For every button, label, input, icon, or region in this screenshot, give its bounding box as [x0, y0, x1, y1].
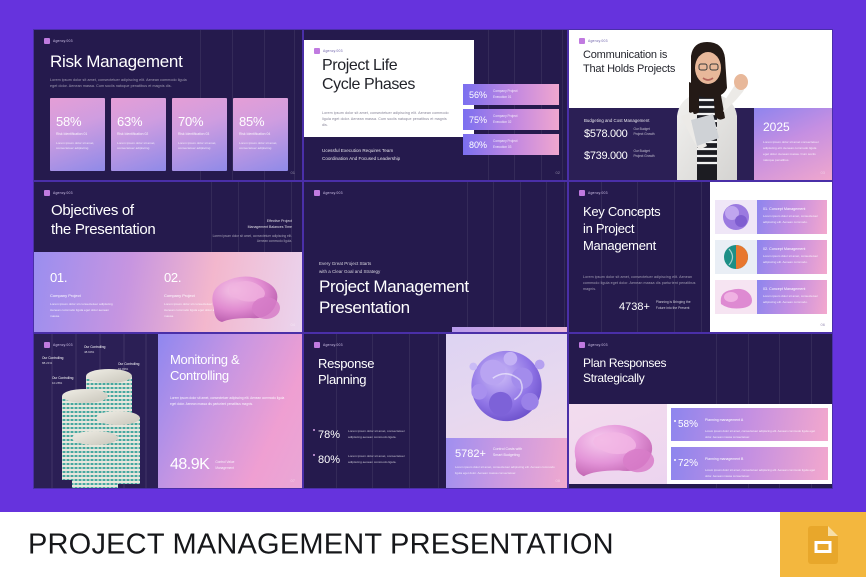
slide-title-line1: Project Life [322, 57, 397, 74]
concept-row[interactable]: 03. Concept Management Lorem ipsum dolor… [715, 280, 827, 314]
slide-title: Monitoring & Controlling [170, 352, 290, 385]
concept-row-panel: 01. Concept Management Lorem ipsum dolor… [710, 182, 832, 332]
corner-note-heading: Effective Project Management Balances Ti… [212, 218, 292, 231]
phase-bar[interactable]: 75% Company Project Execution 02 [463, 109, 559, 130]
concept-row-heading: 01. Concept Management [763, 207, 821, 211]
year-value: 2025 [763, 120, 823, 134]
concept-row-info: 01. Concept Management Lorem ipsum dolor… [757, 200, 827, 234]
risk-card[interactable]: 63% Risk Identification 02 Lorem ipsum d… [111, 98, 166, 171]
budget-figure-row: $578.000 Our Budget Project Growth [584, 127, 655, 140]
kpi-line2: Management [215, 466, 234, 470]
logo-text: Agency.003 [588, 343, 608, 347]
phase-bar-label1: Company Project [493, 139, 517, 143]
concept-row-text: Lorem ipsum dolor sit amet, consectetuer… [763, 214, 821, 225]
slide-page-number: 06 [821, 322, 825, 327]
response-stat-bar: 5782+ Control Costs with Smart Budgeting… [446, 438, 567, 488]
chart-callout: Our Controlling 48.90% [84, 345, 105, 355]
year-text: Lorem ipsum dolor sit amet consectetuer … [763, 140, 823, 164]
plan-response-text: Lorem ipsum dolor sit amet, consectetuer… [705, 468, 821, 479]
chart-callout-value: 63.89% [118, 367, 128, 371]
phase-bar-meta: Company Project Execution 01 [493, 89, 517, 100]
risk-card-percent: 63% [117, 114, 160, 129]
phase-bar[interactable]: 80% Company Project Execution 03 [463, 134, 559, 155]
slide-plan-responses-strategically[interactable]: Agency.003 Plan Responses Strategically [568, 333, 833, 489]
response-point: 80% Lorem ipsum dolor sit amet, consecte… [318, 454, 418, 466]
slides-grid-backdrop: Agency.003 Risk Management Lorem ipsum d… [0, 0, 866, 512]
slides-grid: Agency.003 Risk Management Lorem ipsum d… [33, 29, 833, 489]
slide-response-planning[interactable]: Agency.003 Response Planning 78% Lorem i… [303, 333, 568, 489]
phase-bar-meta: Company Project Execution 02 [493, 114, 517, 125]
phase-bar-list: 56% Company Project Execution 01 75% Com… [463, 84, 559, 159]
kpi-number: 48.9K [170, 456, 209, 474]
concept-row-text: Lorem ipsum dolor sit amet, consectetuer… [763, 294, 821, 305]
risk-card-percent: 85% [239, 114, 282, 129]
corner-line2: Management Balances Time [248, 225, 292, 229]
budget-amount: $578.000 [584, 128, 627, 140]
slide-footer-statement: Ucessful Execution Requires Team Coordin… [322, 147, 467, 164]
slide-logo: Agency.003 [579, 38, 608, 44]
phase-bar-label1: Company Project [493, 114, 517, 118]
slide-page-number: 03 [821, 170, 825, 175]
risk-card-list: 58% Risk Identification 01 Lorem ipsum d… [50, 98, 288, 171]
concept-row-heading: 03. Concept Management [763, 287, 821, 291]
plan-response-item[interactable]: 72% Planning management B Lorem ipsum do… [671, 447, 828, 480]
pink-loop-blob-3d-art [569, 404, 667, 484]
logo-text: Agency.003 [588, 39, 608, 43]
slide-title-line1: Objectives of [51, 202, 134, 219]
teal-orange-sphere-3d-thumb [715, 240, 757, 274]
budget-meta: Our Budget Project Growth [633, 127, 654, 140]
monitoring-content-panel: Monitoring & Controlling Lorem ipsum dol… [158, 334, 302, 488]
risk-card[interactable]: 70% Risk Identification 03 Lorem ipsum d… [172, 98, 227, 171]
risk-card-percent: 70% [178, 114, 221, 129]
google-slides-badge[interactable] [780, 512, 866, 577]
slide-key-concepts[interactable]: Agency.003 Key Concepts in Project Manag… [568, 181, 833, 333]
slide-logo: Agency.003 [314, 342, 343, 348]
logo-mark-icon [579, 38, 585, 44]
plan-response-item[interactable]: 58% Planning management A Lorem ipsum do… [671, 408, 828, 441]
slide-logo: Agency.003 [44, 38, 73, 44]
slide-title: Project Management Presentation [319, 276, 469, 318]
concept-row[interactable]: 01. Concept Management Lorem ipsum dolor… [715, 200, 827, 234]
risk-card-text: Lorem ipsum dolor sit amet, consectetuer… [56, 141, 99, 152]
phase-bar-label2: Execution 02 [493, 120, 511, 124]
response-point-percent: 80% [318, 454, 340, 466]
stat-text: Lorem ipsum dolor sit amet, consectetuer… [455, 465, 558, 476]
slide-title-line2: Cycle Phases [322, 76, 415, 93]
chart-callout-value: 10.28% [52, 381, 62, 385]
phase-bar-meta: Company Project Execution 03 [493, 139, 517, 150]
budget-figure-row: $739.000 Our Budget Project Growth [584, 149, 655, 162]
response-point-text: Lorem ipsum dolor sit amet, consectetuer… [348, 429, 418, 441]
budget-amount: $739.000 [584, 150, 627, 162]
risk-card-text: Lorem ipsum dolor sit amet, consectetuer… [239, 141, 282, 152]
kicker-line1: Every Great Project Starts [319, 261, 371, 266]
slide-monitoring-controlling[interactable]: Agency.003 [33, 333, 303, 489]
plan-response-percent: 58% [678, 419, 698, 430]
presentation-title: PROJECT MANAGEMENT PRESENTATION [28, 528, 614, 561]
risk-card-label: Risk Identification 04 [239, 132, 282, 136]
risk-card-percent: 58% [56, 114, 99, 129]
objective-heading: Company Project [50, 293, 116, 298]
chart-callout-value: 88.21% [42, 361, 52, 365]
budget-label1: Our Budget [633, 149, 649, 153]
concept-row-text: Lorem ipsum dolor sit amet, consectetuer… [763, 254, 821, 265]
logo-text: Agency.003 [323, 191, 343, 195]
concept-row-info: 02. Concept Management Lorem ipsum dolor… [757, 240, 827, 274]
chart-panel: Agency.003 [34, 334, 158, 488]
kpi-line1: Control Value [215, 460, 234, 464]
logo-mark-icon [44, 38, 50, 44]
objective-text: Lorem ipsum dolor sit consectetuer adipi… [50, 302, 116, 320]
risk-card-text: Lorem ipsum dolor sit amet, consectetuer… [178, 141, 221, 152]
phase-bar-percent: 56% [469, 90, 487, 100]
logo-mark-icon [44, 342, 50, 348]
slide-logo: Agency.003 [44, 342, 73, 348]
logo-text: Agency.003 [53, 343, 73, 347]
slide-title: Key Concepts in Project Management [583, 204, 660, 255]
objective-column[interactable]: 01. Company Project Lorem ipsum dolor si… [50, 270, 116, 320]
slide-title-line2: Presentation [319, 298, 410, 317]
stat-text: Planning is Bringing the Future into the… [656, 300, 691, 313]
stat-line2: Smart Budgeting [493, 453, 520, 457]
stat-line1: Planning is Bringing the [656, 300, 691, 304]
stat-line2: Future into the Present [656, 306, 690, 310]
slide-title-line1: Plan Responses [583, 356, 666, 370]
footer-line1: Ucessful Execution Requires Team [322, 148, 393, 153]
slide-title-slide[interactable]: Agency.003 Every Great Project Starts wi… [303, 181, 568, 333]
slide-title-line1: Response [318, 356, 374, 371]
slide-title: Project Life Cycle Phases [322, 57, 415, 95]
plan-response-percent: 72% [678, 458, 698, 469]
chart-callout: Our Controlling 88.21% [42, 356, 63, 366]
slide-logo: Agency.003 [314, 48, 343, 54]
stat-heading: Control Costs with Smart Budgeting [493, 446, 522, 460]
key-concepts-stat: 4738+ Planning is Bringing the Future in… [619, 300, 691, 313]
slide-title-line1: Project Management [319, 277, 469, 296]
slide-title-line2: Strategically [583, 371, 644, 385]
slide-page-number: 07 [291, 478, 295, 483]
slide-logo: Agency.003 [44, 190, 73, 196]
plan-response-copy: Planning management B Lorem ipsum dolor … [705, 447, 821, 479]
chart-callout: Our Controlling 10.28% [52, 376, 73, 386]
kpi-text: Control Value Management [215, 460, 234, 474]
plan-response-heading: Planning management B [705, 457, 743, 461]
budget-heading: Budgeting and Cost Management [584, 118, 649, 123]
budget-label2: Project Growth [633, 154, 654, 158]
response-point-text: Lorem ipsum dolor sit amet, consectetuer… [348, 454, 418, 466]
objective-number: 01. [50, 270, 116, 285]
google-slides-icon [808, 526, 838, 564]
slide-communication[interactable]: Agency.003 Communication is That Holds P… [568, 29, 833, 181]
slide-subtitle: Lorem ipsum dolor sit amet, consectetuer… [583, 274, 701, 292]
risk-card[interactable]: 58% Risk Identification 01 Lorem ipsum d… [50, 98, 105, 171]
phase-bar-percent: 75% [469, 115, 487, 125]
caption-bar: PROJECT MANAGEMENT PRESENTATION [0, 512, 866, 577]
slide-objectives[interactable]: Agency.003 Objectives of the Presentatio… [33, 181, 303, 333]
phase-bar-label2: Execution 01 [493, 95, 511, 99]
footer-line2: Coordination And Focused Leadership [322, 156, 400, 161]
slide-page-number: 04 [291, 322, 295, 327]
logo-text: Agency.003 [588, 191, 608, 195]
slide-title: Response Planning [318, 356, 374, 389]
risk-card-text: Lorem ipsum dolor sit amet, consectetuer… [117, 141, 160, 152]
slide-title-line2: Planning [318, 372, 366, 387]
slide-title-line1: Monitoring & [170, 352, 239, 367]
risk-card-label: Risk Identification 01 [56, 132, 99, 136]
logo-text: Agency.003 [53, 191, 73, 195]
phase-bar-percent: 80% [469, 140, 487, 150]
accent-stripe [452, 327, 567, 332]
slide-title-line2: Controlling [170, 368, 229, 383]
slide-project-life-cycle-phases[interactable]: Agency.003 Project Life Cycle Phases Lor… [303, 29, 568, 181]
response-point: 78% Lorem ipsum dolor sit amet, consecte… [318, 429, 418, 441]
corner-line1: Effective Project [267, 219, 292, 223]
plan-response-heading: Planning management A [705, 418, 743, 422]
phase-bar[interactable]: 56% Company Project Execution 01 [463, 84, 559, 105]
chart-callout-value: 48.90% [84, 350, 94, 354]
slide-title-line3: Management [583, 238, 656, 253]
logo-mark-icon [579, 342, 585, 348]
response-point-percent: 78% [318, 429, 340, 441]
slide-title: Plan Responses Strategically [583, 356, 666, 387]
risk-card-label: Risk Identification 03 [178, 132, 221, 136]
logo-text: Agency.003 [53, 39, 73, 43]
slide-text: Lorem ipsum dolor sit amet, consectetuer… [170, 395, 288, 407]
concept-row-info: 03. Concept Management Lorem ipsum dolor… [757, 280, 827, 314]
logo-mark-icon [314, 190, 320, 196]
budget-label2: Project Growth [633, 132, 654, 136]
plan-response-copy: Planning management A Lorem ipsum dolor … [705, 408, 821, 440]
slide-headline-panel: Agency.003 Project Life Cycle Phases Lor… [304, 40, 474, 137]
kicker-line2: with a Clear Goal and Strategy [319, 269, 380, 274]
phase-bar-label2: Execution 03 [493, 145, 511, 149]
slide-corner-note: Effective Project Management Balances Ti… [212, 218, 292, 245]
purple-bubble-cluster-3d-art [446, 334, 567, 438]
slide-title-line2: the Presentation [51, 221, 155, 238]
logo-mark-icon [579, 190, 585, 196]
slide-page-number: 02 [556, 170, 560, 175]
slide-page-number: 01 [291, 170, 295, 175]
slide-logo: Agency.003 [579, 190, 608, 196]
slide-subtitle: Lorem ipsum dolor sit amet, consectetuer… [50, 77, 190, 89]
risk-card[interactable]: 85% Risk Identification 04 Lorem ipsum d… [233, 98, 288, 171]
response-stat-row: 5782+ Control Costs with Smart Budgeting [455, 446, 558, 460]
phase-bar-label1: Company Project [493, 89, 517, 93]
corner-note-text: Lorem ipsum dolor sit amet, consectetuer… [212, 234, 292, 246]
logo-text: Agency.003 [323, 49, 343, 53]
concept-row-heading: 02. Concept Management [763, 247, 821, 251]
logo-mark-icon [314, 48, 320, 54]
budget-label1: Our Budget [633, 127, 649, 131]
slide-title: Risk Management [50, 52, 183, 72]
plan-response-list: 58% Planning management A Lorem ipsum do… [667, 404, 832, 484]
purple-swirl-3d-thumb [715, 200, 757, 234]
risk-card-label: Risk Identification 02 [117, 132, 160, 136]
slide-kicker: Every Great Project Starts with a Clear … [319, 260, 380, 277]
stat-number: 4738+ [619, 301, 650, 313]
slide-risk-management[interactable]: Agency.003 Risk Management Lorem ipsum d… [33, 29, 303, 181]
slide-title: Objectives of the Presentation [51, 202, 155, 240]
businesswoman-photo [655, 42, 755, 181]
presentation-preview-page: Agency.003 Risk Management Lorem ipsum d… [0, 0, 866, 577]
logo-mark-icon [44, 190, 50, 196]
slide-page-number: 08 [556, 478, 560, 483]
pink-blob-3d-thumb [715, 280, 757, 314]
slide-title-line1: Key Concepts [583, 204, 660, 219]
plan-response-text: Lorem ipsum dolor sit amet, consectetuer… [705, 429, 821, 440]
stat-line1: Control Costs with [493, 447, 522, 451]
logo-mark-icon [314, 342, 320, 348]
slide-logo: Agency.003 [314, 190, 343, 196]
slide-subtitle: Lorem ipsum dolor sit amet, consectetuer… [322, 110, 452, 128]
slide-logo: Agency.003 [579, 342, 608, 348]
budget-meta: Our Budget Project Growth [633, 149, 654, 162]
slide-title-line2: in Project [583, 221, 634, 236]
chart-callout: Our Controlling 63.89% [118, 362, 139, 372]
monitoring-kpi: 48.9K Control Value Management [170, 456, 234, 474]
pink-3d-blob-art [200, 256, 296, 330]
concept-row[interactable]: 02. Concept Management Lorem ipsum dolor… [715, 240, 827, 274]
logo-text: Agency.003 [323, 343, 343, 347]
stat-number: 5782+ [455, 448, 486, 460]
